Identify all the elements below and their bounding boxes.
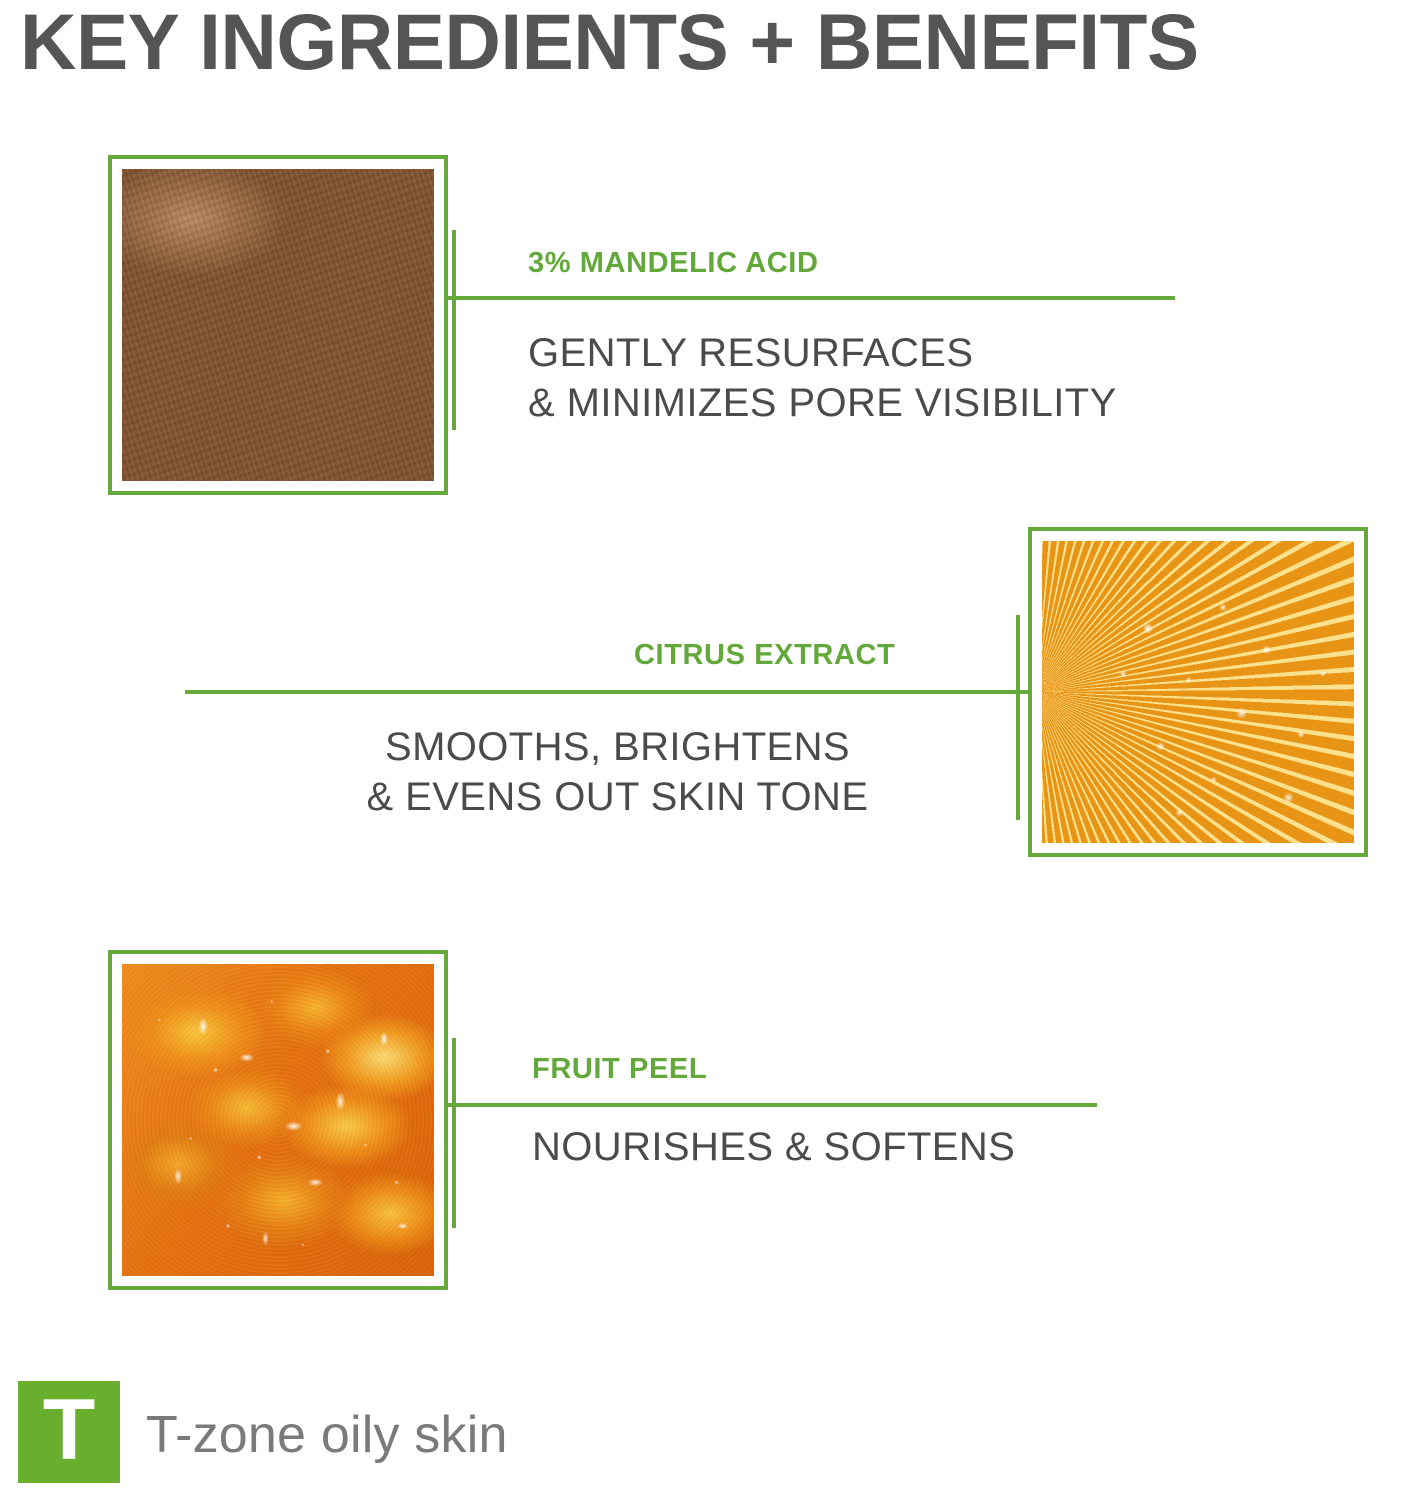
ingredient-image-citrus: [1028, 527, 1368, 857]
t-zone-label: T-zone oily skin: [146, 1404, 508, 1466]
t-zone-badge: T: [18, 1381, 120, 1483]
ingredient-name-citrus-extract: CITRUS EXTRACT: [634, 638, 895, 672]
almonds-photo: [122, 169, 434, 481]
infographic-page: KEY INGREDIENTS + BENEFITS 3% MANDELIC A…: [0, 0, 1427, 1500]
ingredient-benefit-mandelic-acid: GENTLY RESURFACES & MINIMIZES PORE VISIB…: [528, 328, 1228, 428]
connector-vertical-fruit-peel: [452, 1038, 456, 1228]
t-zone-badge-letter: T: [18, 1381, 120, 1483]
ingredient-benefit-citrus-extract: SMOOTHS, BRIGHTENS & EVENS OUT SKIN TONE: [235, 722, 1000, 822]
orange-slice-photo: [1042, 541, 1354, 843]
divider-rule-mandelic: [452, 296, 1175, 300]
ingredient-name-fruit-peel: FRUIT PEEL: [532, 1052, 707, 1086]
divider-rule-fruit-peel: [452, 1103, 1097, 1107]
connector-vertical-mandelic: [452, 230, 456, 430]
ingredient-benefit-fruit-peel: NOURISHES & SOFTENS: [532, 1122, 1172, 1172]
connector-vertical-citrus: [1016, 615, 1020, 820]
ingredient-image-fruit-peel: [108, 950, 448, 1290]
ingredient-name-mandelic-acid: 3% MANDELIC ACID: [528, 246, 818, 280]
page-title: KEY INGREDIENTS + BENEFITS: [20, 0, 1406, 90]
divider-rule-citrus: [185, 690, 1020, 694]
ingredient-image-almonds: [108, 155, 448, 495]
wet-orange-peel-photo: [122, 964, 434, 1276]
